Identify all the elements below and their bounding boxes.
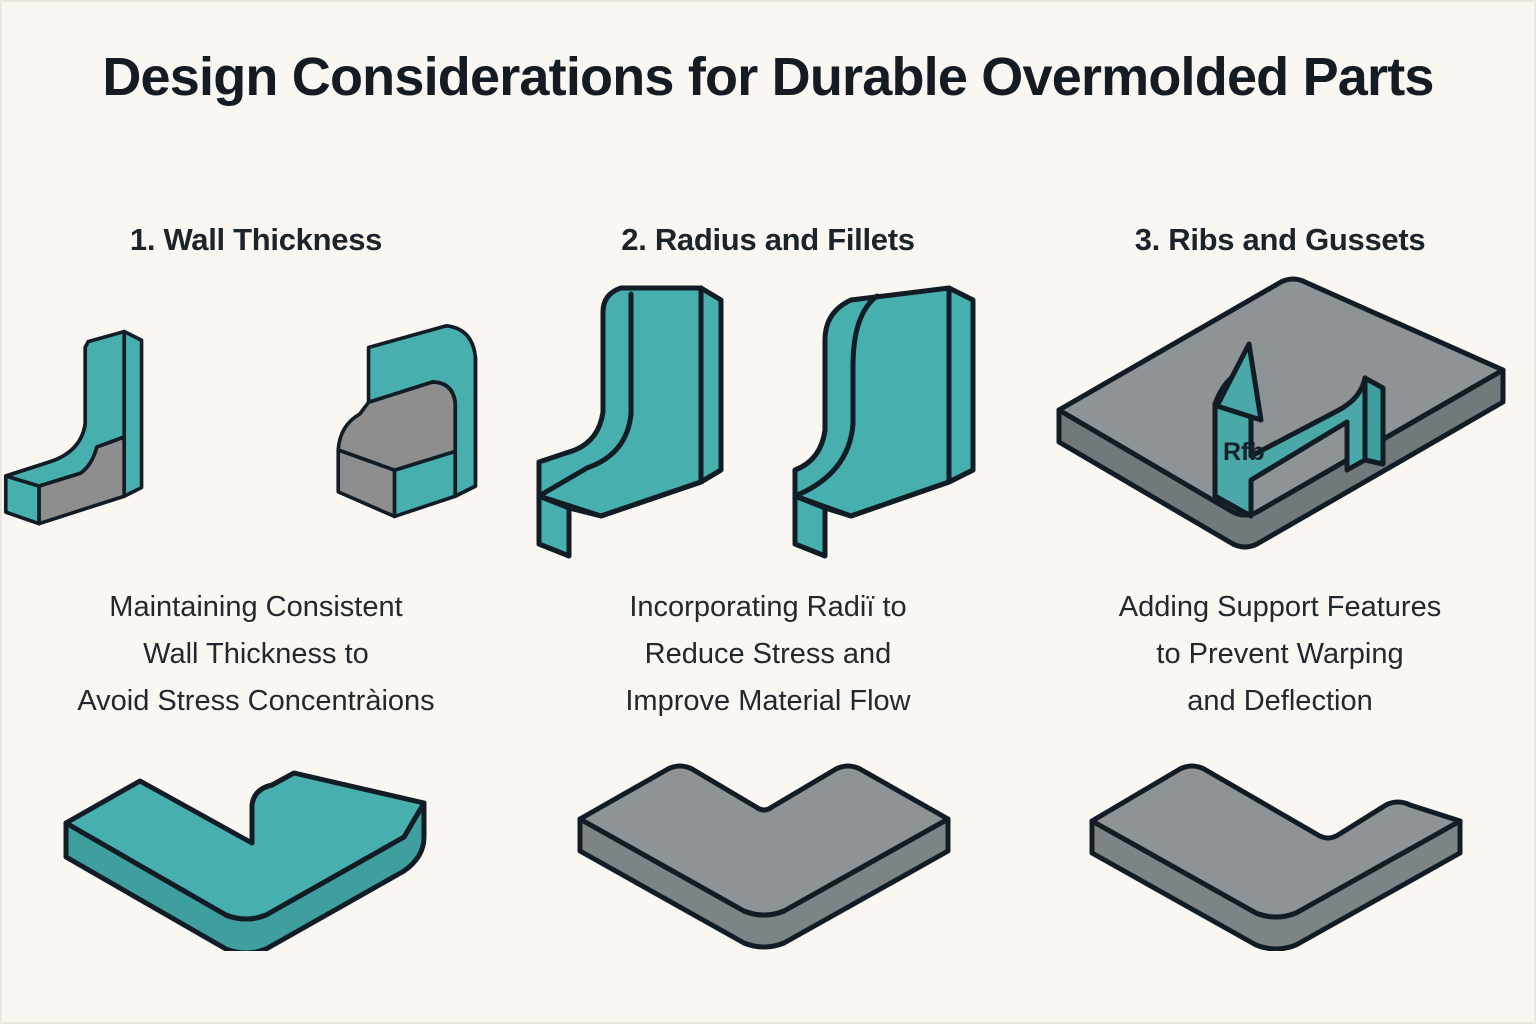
column-heading-3: 3. Ribs and Gussets	[1135, 216, 1426, 264]
column-wall-thickness: 1. Wall Thickness	[0, 216, 512, 961]
caption-line: and Deflection	[1045, 678, 1515, 725]
column-heading-1: 1. Wall Thickness	[130, 216, 382, 264]
caption-line: Avoid Stress Concentràions	[21, 678, 491, 725]
column-ribs-gussets: 3. Ribs and Gussets	[1024, 216, 1536, 961]
column-heading-2: 2. Radius and Fillets	[621, 216, 914, 264]
caption-line: Incorporating Radiï to	[533, 584, 1003, 631]
caption-line: Improve Material Flow	[533, 678, 1003, 725]
column-caption-3: Adding Support Features to Prevent Warpi…	[1045, 584, 1515, 725]
infographic-poster: Design Considerations for Durable Overmo…	[0, 0, 1536, 1024]
caption-line: Adding Support Features	[1045, 584, 1515, 631]
grey-stepped-plate	[1024, 751, 1536, 961]
grey-chevron-plate	[512, 751, 1024, 961]
column-radius-fillets: 2. Radius and Fillets	[512, 216, 1024, 961]
teal-notched-plate	[0, 751, 512, 961]
caption-line: Reduce Stress and	[533, 631, 1003, 678]
column-caption-2: Incorporating Radiï to Reduce Stress and…	[533, 584, 1003, 725]
radius-fillet-isometric-parts	[512, 264, 1024, 584]
rib-gusset-isometric-part: Rfb	[1024, 264, 1536, 584]
rib-label: Rfb	[1223, 438, 1265, 466]
columns-container: 1. Wall Thickness	[0, 216, 1536, 961]
caption-line: Maintaining Consistent	[21, 584, 491, 631]
column-caption-1: Maintaining Consistent Wall Thickness to…	[21, 584, 491, 725]
caption-line: to Prevent Warping	[1045, 631, 1515, 678]
wall-thickness-isometric-parts	[0, 264, 512, 584]
caption-line: Wall Thickness to	[21, 631, 491, 678]
page-title: Design Considerations for Durable Overmo…	[96, 46, 1440, 109]
